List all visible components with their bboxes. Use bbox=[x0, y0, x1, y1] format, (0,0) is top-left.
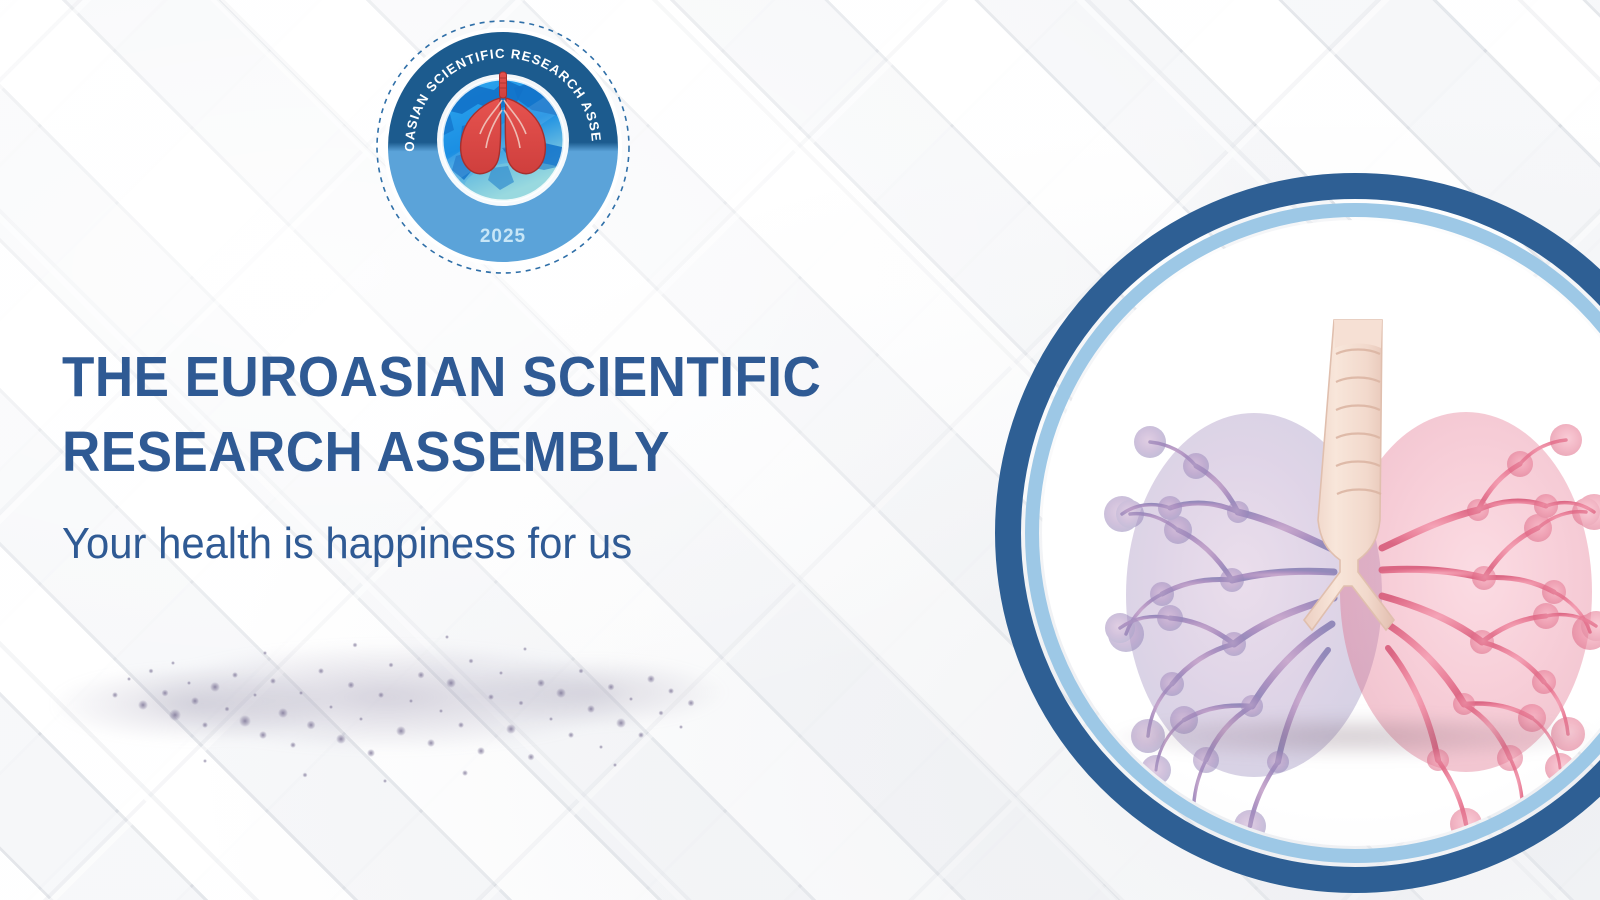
headline-block: THE EUROASIAN SCIENTIFIC RESEARCH ASSEMB… bbox=[62, 340, 882, 570]
promotional-banner: EUROASIAN SCIENTIFIC RESEARCH ASSEMBLY 2… bbox=[0, 0, 1600, 900]
logo-badge-icon: EUROASIAN SCIENTIFIC RESEARCH ASSEMBLY 2… bbox=[374, 18, 632, 276]
logo-badge: EUROASIAN SCIENTIFIC RESEARCH ASSEMBLY 2… bbox=[374, 18, 632, 276]
page-title-line-2: RESEARCH ASSEMBLY bbox=[62, 415, 825, 490]
badge-year: 2025 bbox=[480, 226, 526, 247]
medallion-drop-shadow bbox=[1117, 715, 1593, 759]
lungs-medallion bbox=[995, 173, 1600, 893]
medallion-face bbox=[1042, 220, 1600, 846]
page-title-line-1: THE EUROASIAN SCIENTIFIC bbox=[62, 340, 825, 415]
tagline: Your health is happiness for us bbox=[62, 518, 841, 570]
